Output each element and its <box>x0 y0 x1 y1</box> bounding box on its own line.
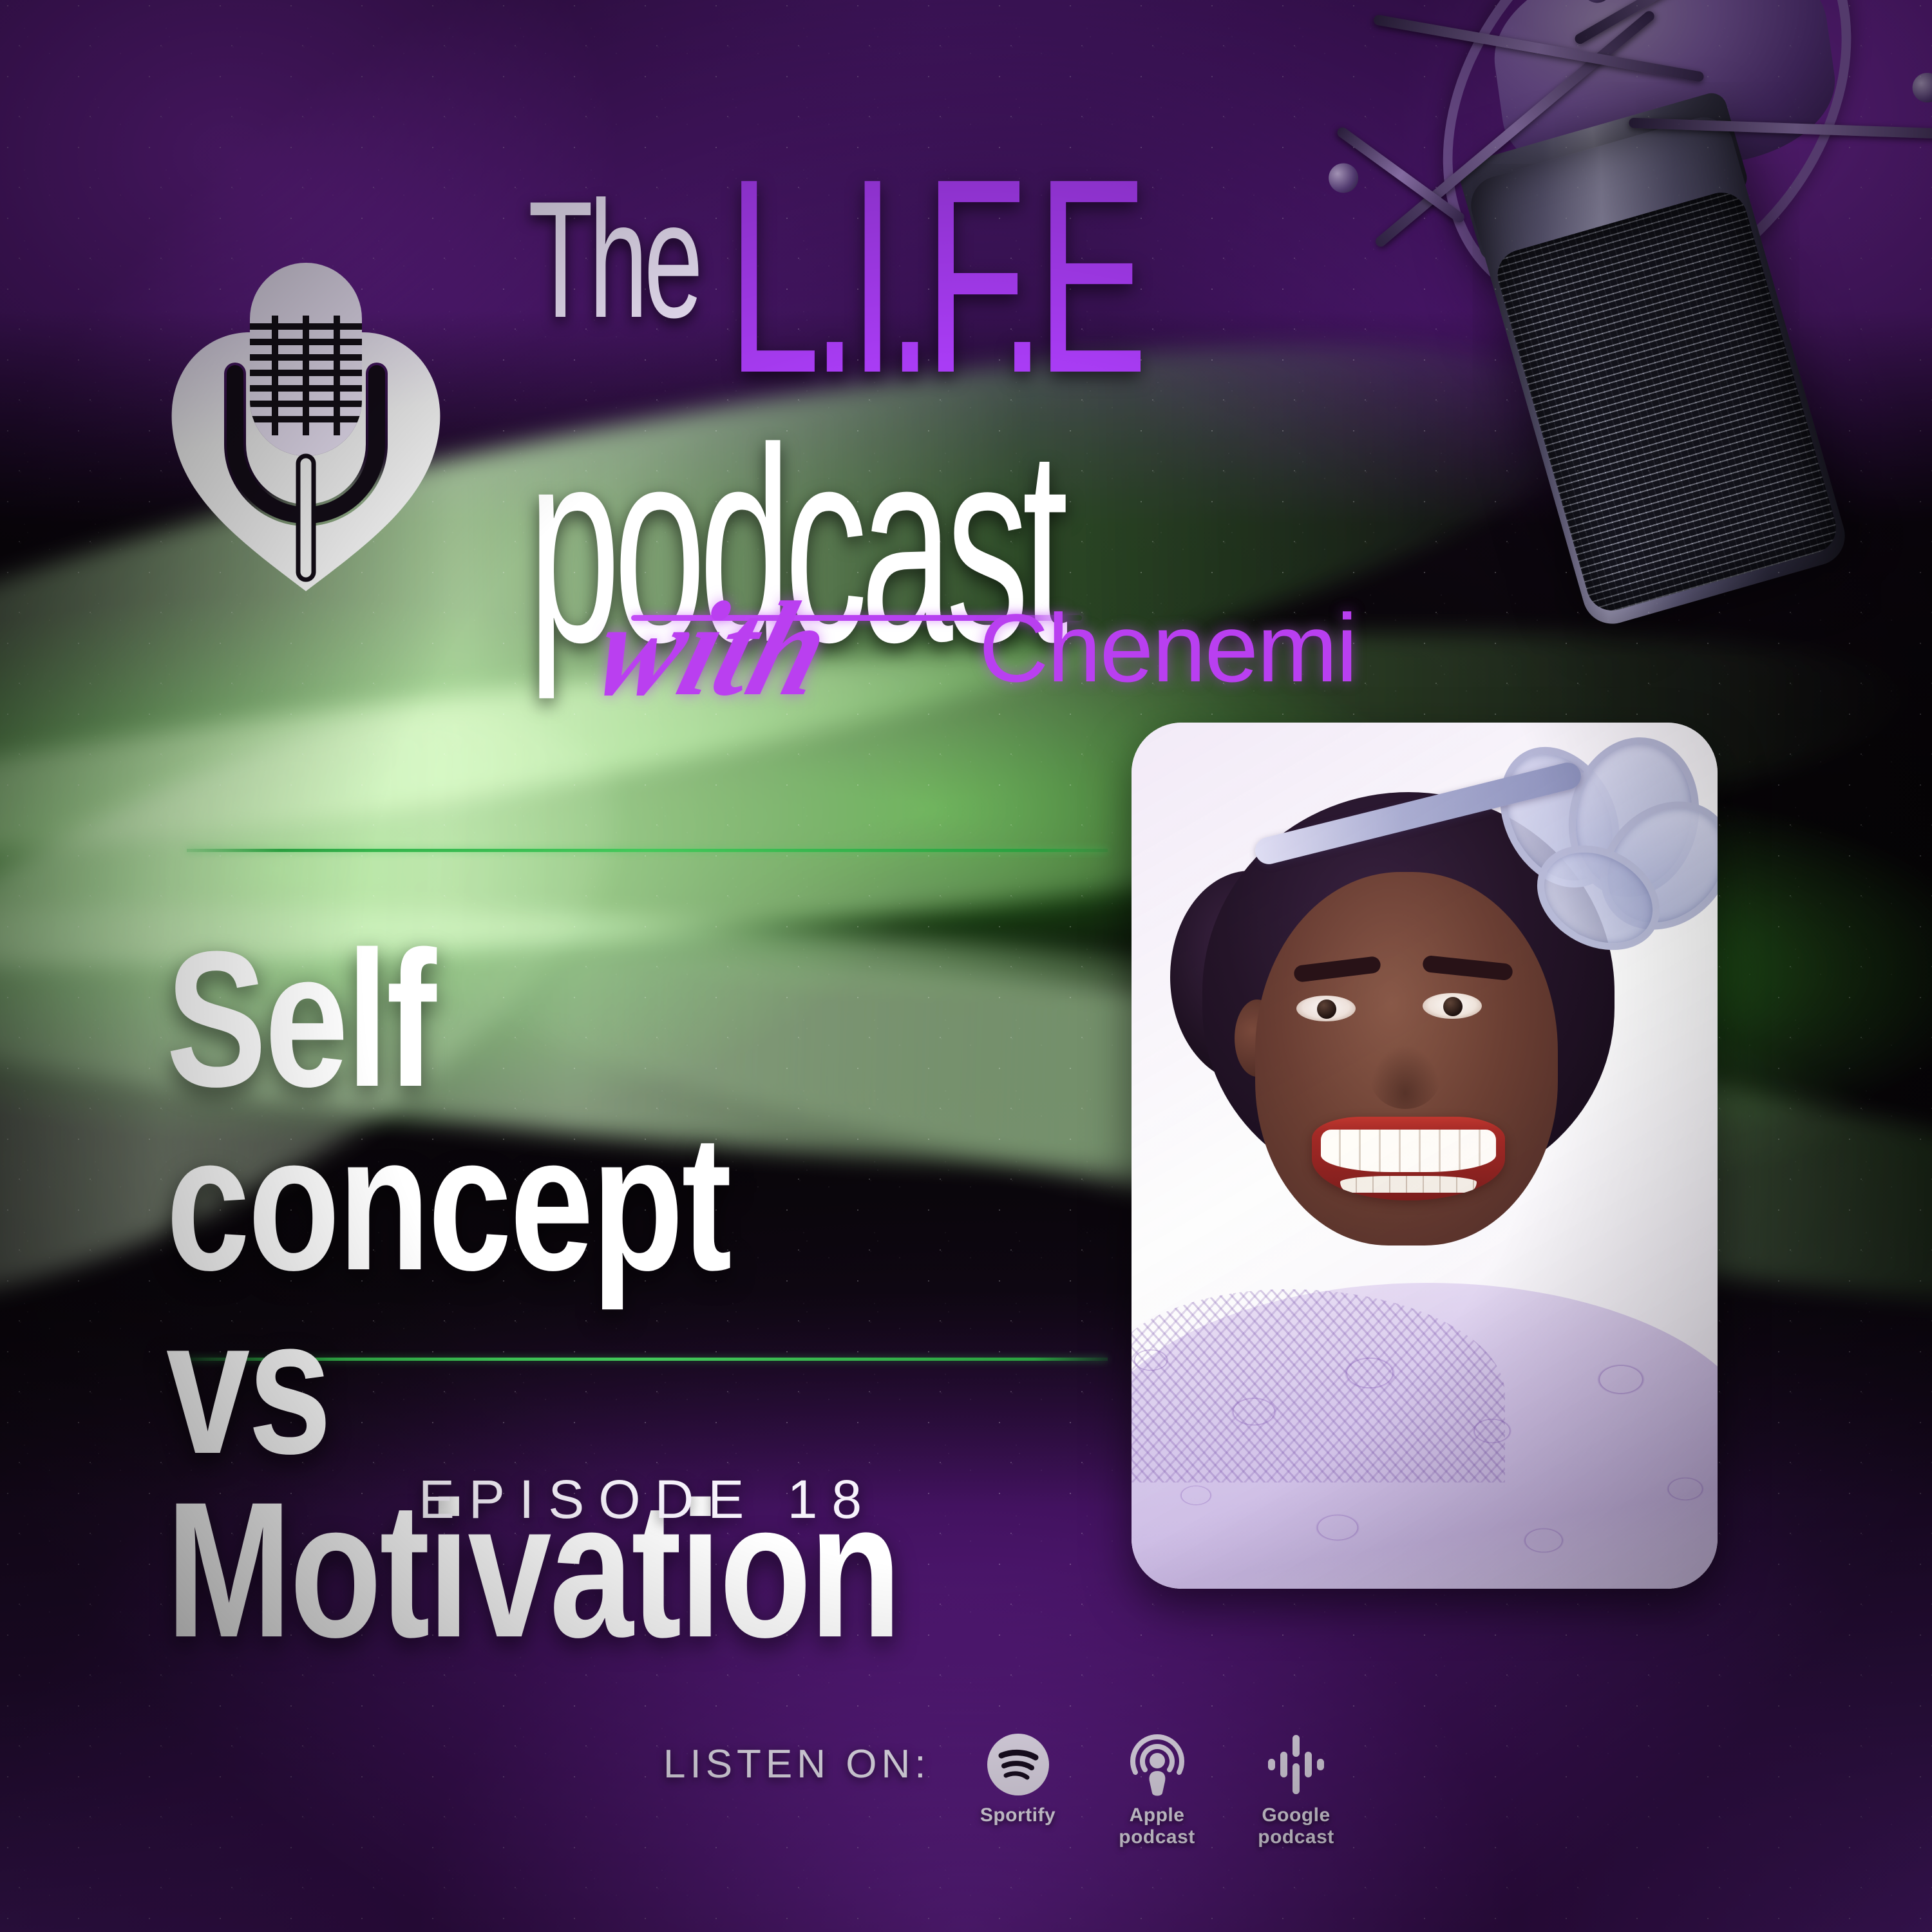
platform-label-line1: Apple <box>1130 1804 1185 1826</box>
shock-mount-knob <box>1909 70 1932 106</box>
microphone-grille <box>1492 187 1842 617</box>
platform-label: Google podcast <box>1258 1804 1334 1848</box>
podcast-logo-wordmark: The L.I.F.E podcast with Chenemi <box>528 193 1314 728</box>
episode-number: EPISODE 18 <box>187 1468 1108 1531</box>
portrait-color-tone <box>1132 723 1718 1589</box>
logo-word-the: The <box>528 193 699 326</box>
logo-word-with: with <box>580 572 846 727</box>
episode-title-line-1: Self concept <box>166 911 730 1311</box>
apple-podcast-icon[interactable] <box>1125 1732 1189 1797</box>
divider-top <box>187 849 1108 852</box>
platform-label-line1: Sportify <box>980 1804 1056 1826</box>
platform-spotify[interactable]: Sportify <box>967 1732 1070 1826</box>
host-name: Chenemi <box>979 592 1356 704</box>
host-portrait-card <box>1132 723 1718 1589</box>
platform-google-podcast[interactable]: Google podcast <box>1245 1732 1348 1848</box>
platform-label-line1: Google <box>1262 1804 1330 1826</box>
platform-label-line2: podcast <box>1258 1826 1334 1848</box>
spotify-icon[interactable] <box>986 1732 1050 1797</box>
platform-apple-podcast[interactable]: Apple podcast <box>1106 1732 1209 1848</box>
listen-on-label: LISTEN ON: <box>663 1741 931 1787</box>
platform-label: Apple podcast <box>1119 1804 1195 1848</box>
heart-microphone-icon <box>164 251 448 599</box>
podcast-cover-artwork: The L.I.F.E podcast with Chenemi Self co… <box>0 0 1932 1932</box>
platform-label-line2: podcast <box>1119 1826 1195 1848</box>
platform-label: Sportify <box>980 1804 1056 1826</box>
google-podcast-icon[interactable] <box>1264 1732 1329 1797</box>
listen-on-bar: LISTEN ON: Sportify Apple podcast <box>663 1732 1348 1848</box>
shock-mount-knob <box>1325 160 1362 196</box>
episode-title: Self concept vs Motivation <box>166 927 920 1662</box>
